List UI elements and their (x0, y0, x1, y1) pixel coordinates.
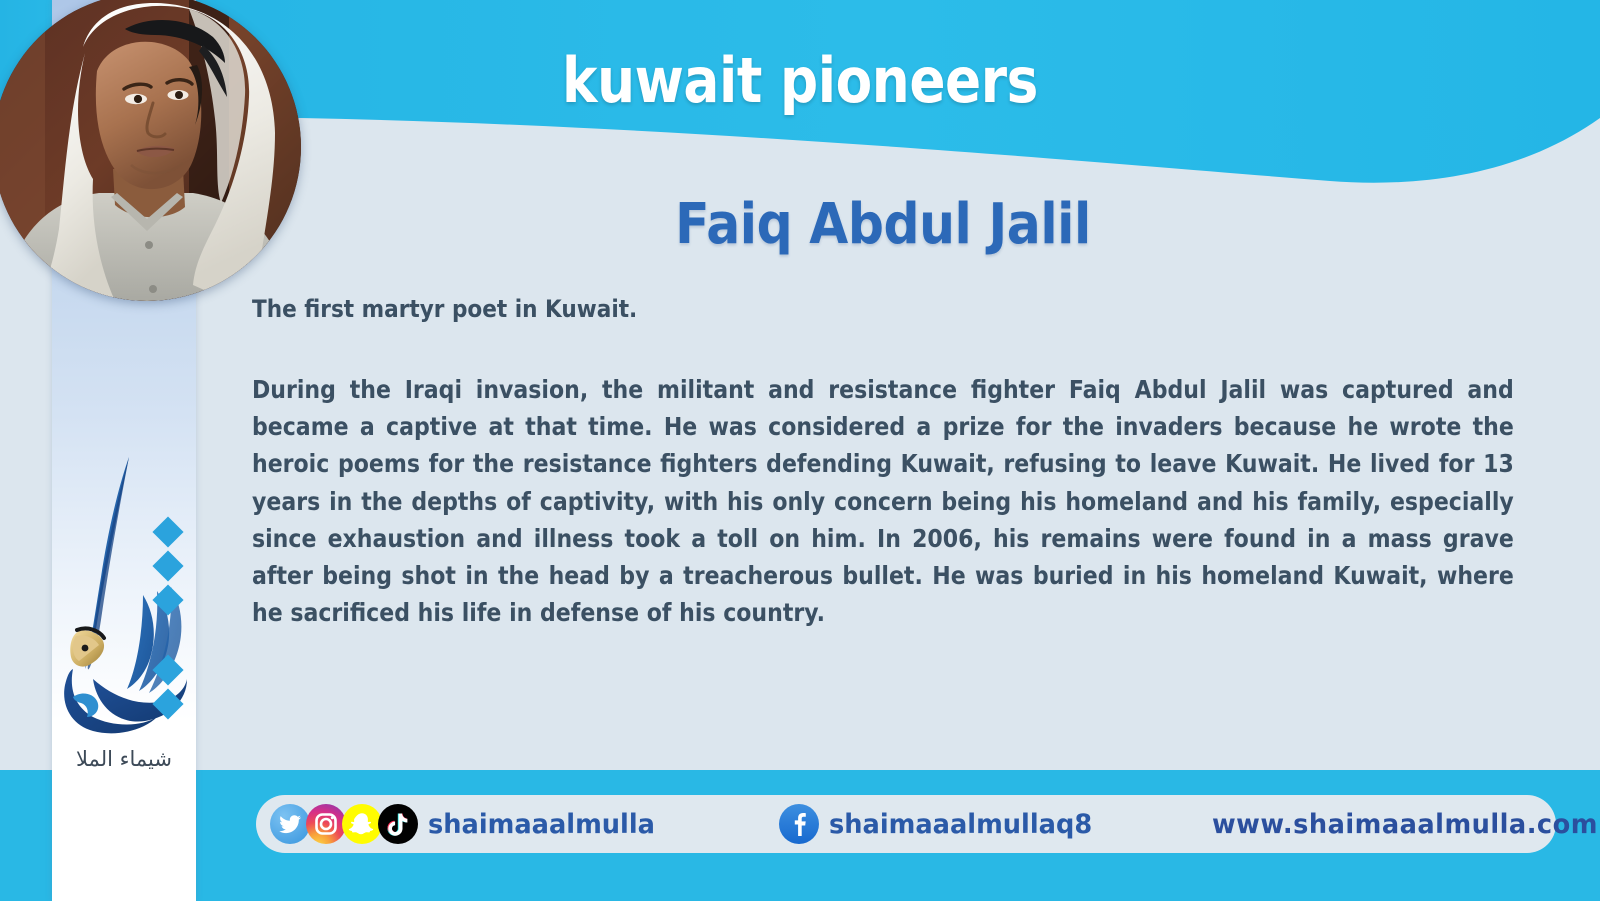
brand-logo: شيماء الملا (52, 445, 196, 825)
avatar (0, 0, 301, 301)
poster-canvas: kuwait pioneers (0, 0, 1600, 901)
footer-contact-bar: shaimaaalmulla shaimaaalmullaq8 www.shai… (256, 795, 1556, 853)
main-content: Faiq Abdul Jalil The first martyr poet i… (252, 196, 1514, 631)
website-url-text[interactable]: www.shaimaaalmulla.com (1212, 809, 1598, 840)
calligraphy-pen-icon (57, 445, 191, 745)
snapchat-icon[interactable] (342, 804, 382, 844)
page-title: kuwait pioneers (112, 44, 1488, 117)
social-handles-group: shaimaaalmulla (270, 795, 667, 853)
tiktok-icon[interactable] (378, 804, 418, 844)
person-subtitle: The first martyr poet in Kuwait. (252, 295, 1388, 323)
instagram-icon[interactable] (306, 804, 346, 844)
social-icon-row (270, 804, 414, 844)
facebook-group: shaimaaalmullaq8 (779, 795, 1106, 853)
social-handle-text[interactable]: shaimaaalmulla (428, 809, 655, 840)
person-name: Faiq Abdul Jalil (315, 196, 1451, 255)
person-biography: During the Iraqi invasion, the militant … (252, 371, 1514, 632)
facebook-handle-text[interactable]: shaimaaalmullaq8 (829, 809, 1092, 840)
website-group: www.shaimaaalmulla.com (1212, 795, 1600, 853)
facebook-icon[interactable] (779, 804, 819, 844)
logo-arabic-wordmark: شيماء الملا (52, 747, 196, 771)
twitter-icon[interactable] (270, 804, 310, 844)
